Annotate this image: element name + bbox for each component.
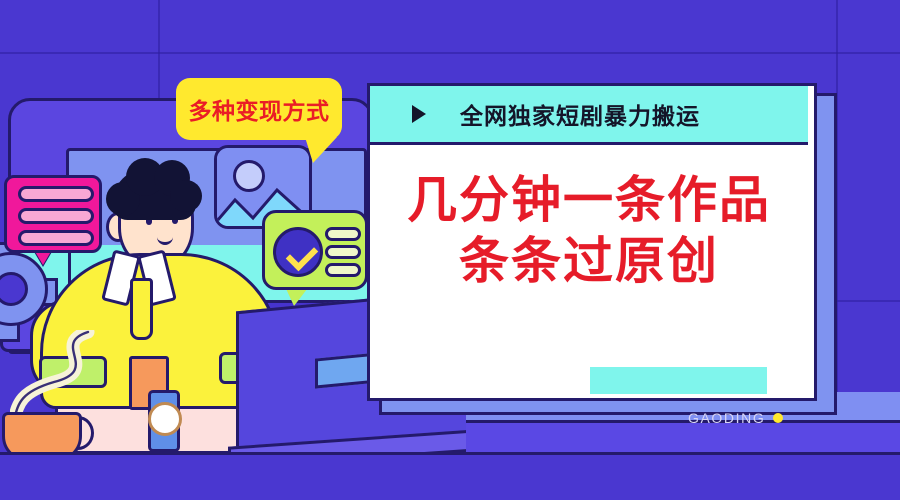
chat-bubble-green-check [262, 210, 368, 290]
bubble-line [325, 245, 361, 259]
bubble-line [325, 263, 361, 277]
watermark-dot-icon [773, 413, 783, 423]
card-header-text: 全网独家短剧暴力搬运 [460, 97, 700, 131]
headline-line-2: 条条过原创 [459, 231, 719, 292]
chat-bubble-pink [4, 175, 102, 253]
check-icon [286, 239, 319, 272]
bubble-line [18, 208, 94, 224]
bubble-line [325, 227, 361, 241]
necktie [130, 278, 153, 340]
promo-badge-text: 多种变现方式 [176, 78, 342, 140]
bubble-line [18, 186, 94, 202]
wristwatch-face [148, 402, 182, 436]
check-circle [273, 227, 323, 277]
bg-grid-line [0, 52, 900, 54]
play-triangle-icon [412, 105, 426, 123]
steam [10, 330, 110, 422]
bubble-line [18, 230, 94, 246]
headline-line-1: 几分钟一条作品 [407, 170, 771, 231]
character-mouth [157, 233, 173, 245]
card-body: 几分钟一条作品 条条过原创 [370, 142, 808, 392]
poster-canvas: 全网独家短剧暴力搬运 几分钟一条作品 条条过原创 多种变现方式 GAODING [0, 0, 900, 500]
desk-front [0, 452, 900, 500]
watermark: GAODING [688, 410, 783, 426]
card-header: 全网独家短剧暴力搬运 [370, 86, 808, 145]
character-hair [112, 168, 196, 220]
card-accent-bar [590, 367, 767, 394]
watermark-text: GAODING [688, 410, 765, 426]
promo-badge-tail [305, 137, 337, 163]
